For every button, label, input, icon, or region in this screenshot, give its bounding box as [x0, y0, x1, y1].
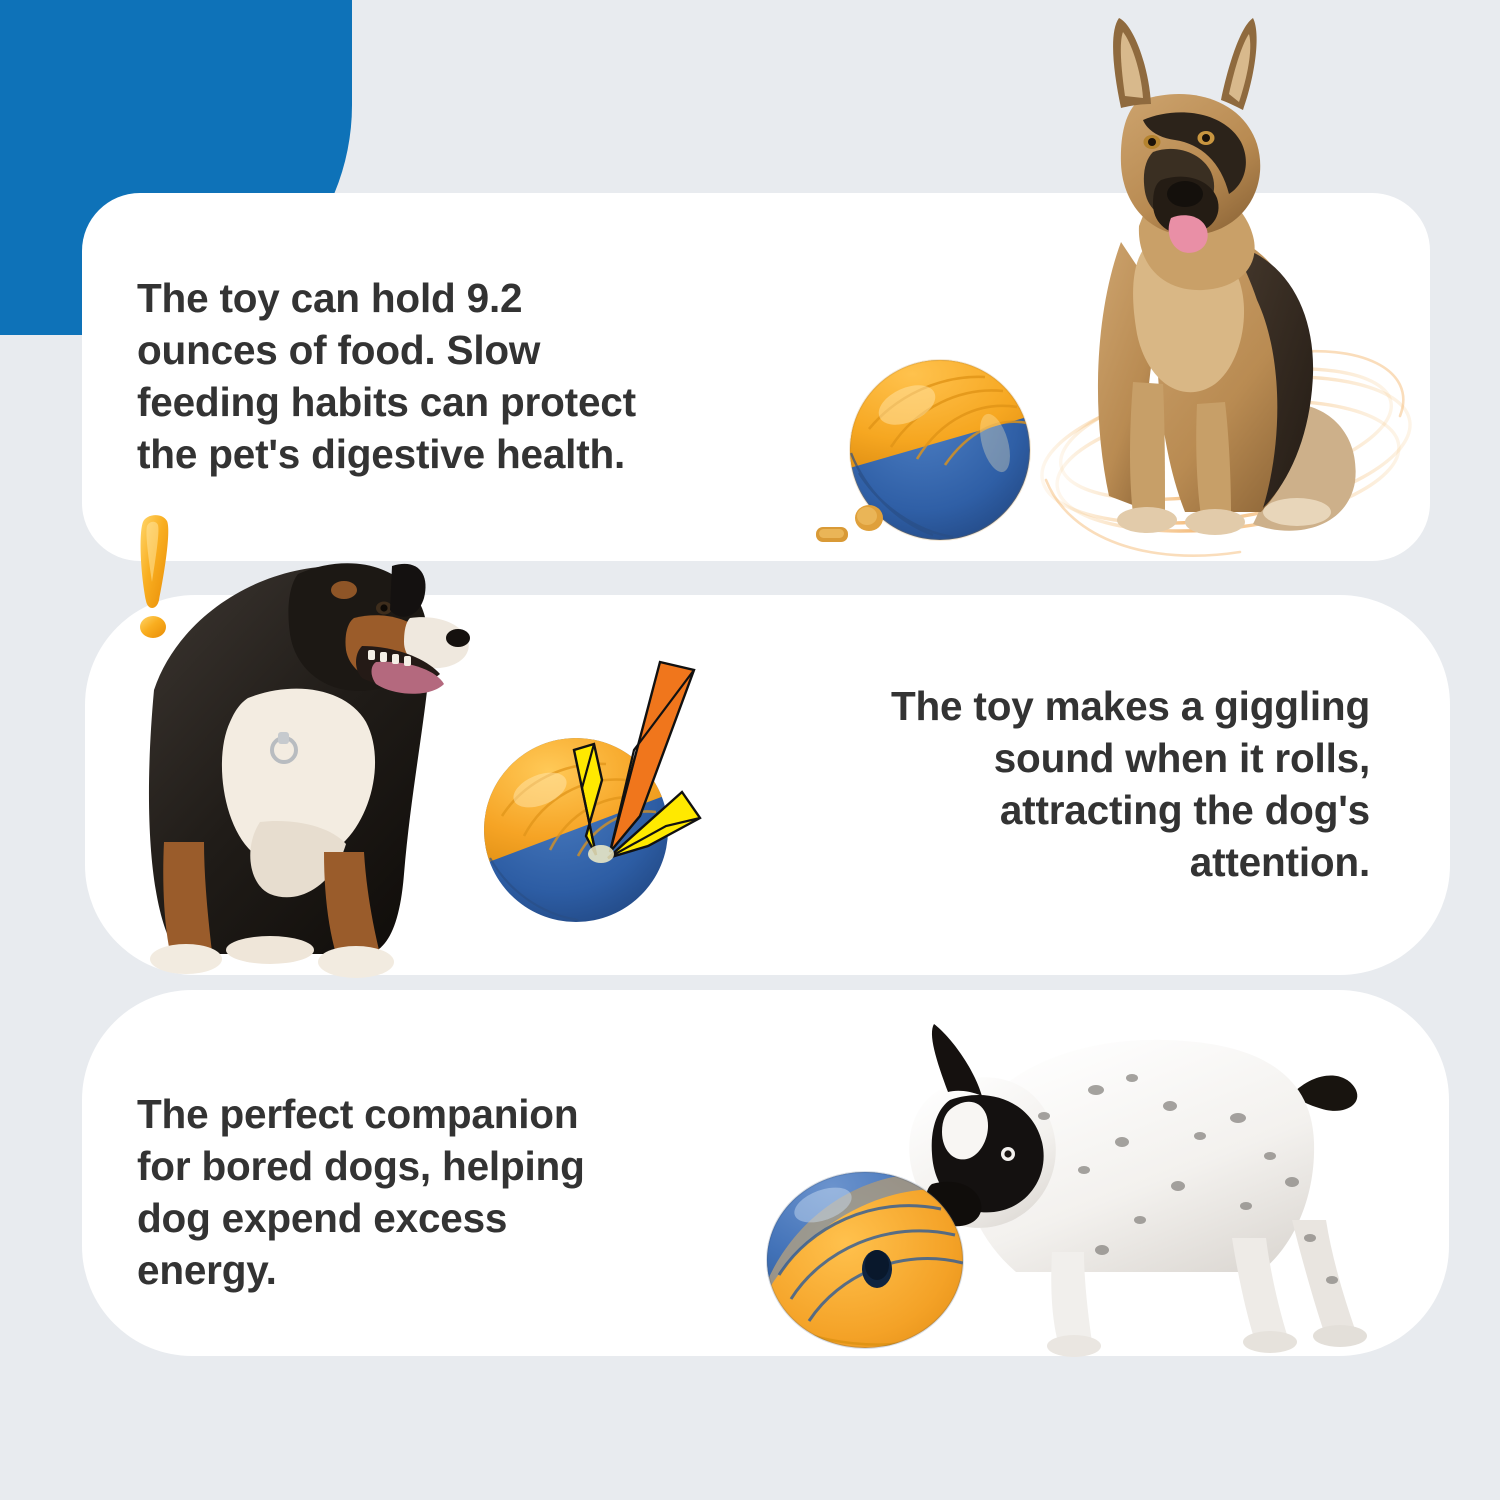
german-shepherd-dog-image: [1025, 12, 1425, 557]
kibble-pieces-icon: [812, 505, 892, 547]
feeding-ball-blue-top-with-hole-icon: [765, 1165, 965, 1350]
feature-text-capacity: The toy can hold 9.2 ounces of food. Slo…: [137, 272, 757, 480]
feature-text-sound: The toy makes a giggling sound when it r…: [770, 680, 1370, 888]
feeding-ball-with-sound-burst-icon: [468, 640, 738, 940]
exclamation-mark-icon: [128, 512, 184, 642]
infographic-stage: The toy can hold 9.2 ounces of food. Slo…: [0, 0, 1500, 1500]
feature-text-energy: The perfect companion for bored dogs, he…: [137, 1088, 707, 1296]
